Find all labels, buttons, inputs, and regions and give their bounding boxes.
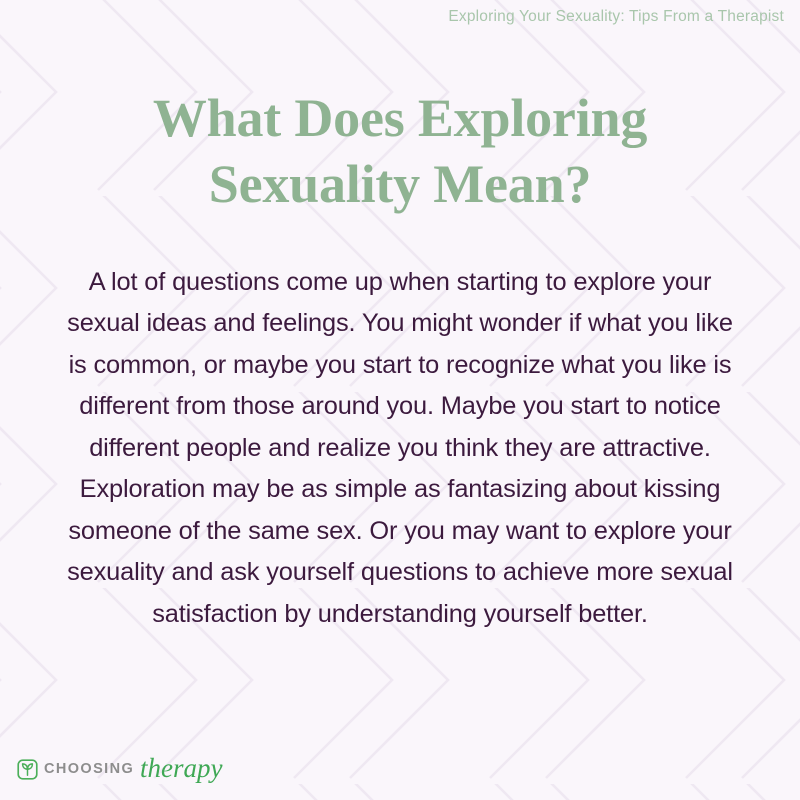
content-column: What Does Exploring Sexuality Mean? A lo… — [0, 0, 800, 800]
logo-word-therapy: therapy — [138, 752, 246, 786]
body-paragraph: A lot of questions come up when starting… — [52, 262, 748, 636]
logo-word-therapy-text: therapy — [140, 753, 222, 783]
leaf-plant-icon — [17, 759, 38, 780]
logo-word-choosing: CHOOSING — [44, 762, 134, 777]
brand-logo[interactable]: CHOOSING therapy — [17, 752, 246, 786]
social-card: Exploring Your Sexuality: Tips From a Th… — [0, 0, 800, 800]
page-title: What Does Exploring Sexuality Mean? — [52, 86, 748, 218]
